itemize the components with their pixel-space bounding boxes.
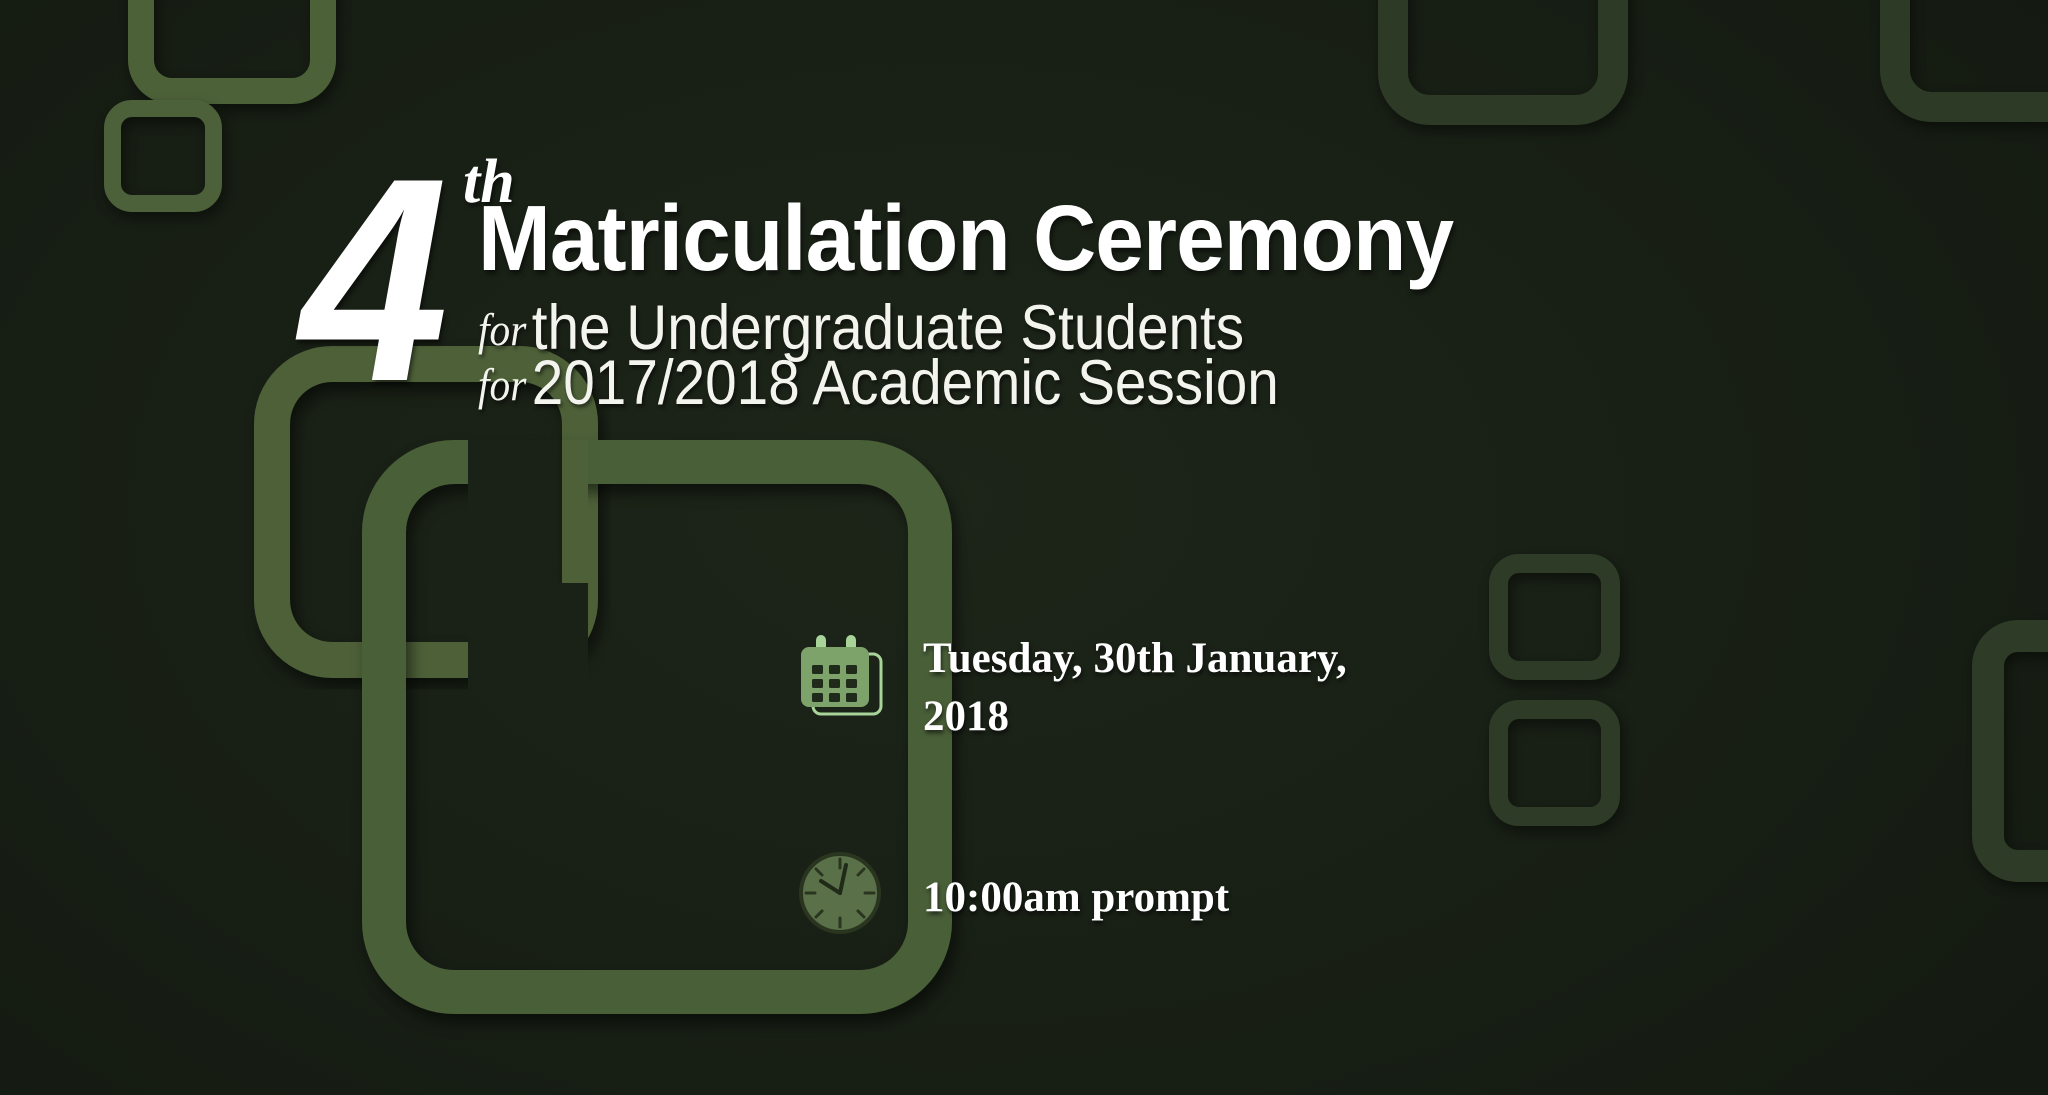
page-title: Matriculation Ceremony xyxy=(478,192,1453,285)
ordinal-number: 4 xyxy=(300,150,439,411)
decor-square-top-right-edge xyxy=(1880,0,2048,122)
decor-square-right-edge xyxy=(1972,620,2048,882)
event-date-text: Tuesday, 30th January, 2018 xyxy=(923,630,1393,747)
decor-square-top-left-large xyxy=(128,0,336,104)
event-time-text: 10:00am prompt xyxy=(923,845,1229,927)
decor-square-right-upper xyxy=(1489,554,1620,680)
event-time-row: 10:00am prompt xyxy=(795,845,1229,941)
decor-square-right-lower xyxy=(1489,700,1620,826)
decor-square-top-right-large xyxy=(1378,0,1628,125)
subtitle-line-2-text: 2017/2018 Academic Session xyxy=(532,348,1279,418)
calendar-icon xyxy=(795,630,891,726)
matriculation-banner: 4 th Matriculation Ceremony forthe Under… xyxy=(0,0,2048,1095)
for-word-1: for xyxy=(478,304,532,355)
decor-square-left-small xyxy=(104,100,222,212)
clock-icon xyxy=(795,845,891,941)
subtitle-line-2: for2017/2018 Academic Session xyxy=(478,352,1279,415)
event-date-row: Tuesday, 30th January, 2018 xyxy=(795,630,1393,747)
for-word-2: for xyxy=(478,359,532,410)
headline-block: 4 th Matriculation Ceremony forthe Under… xyxy=(300,140,1420,400)
